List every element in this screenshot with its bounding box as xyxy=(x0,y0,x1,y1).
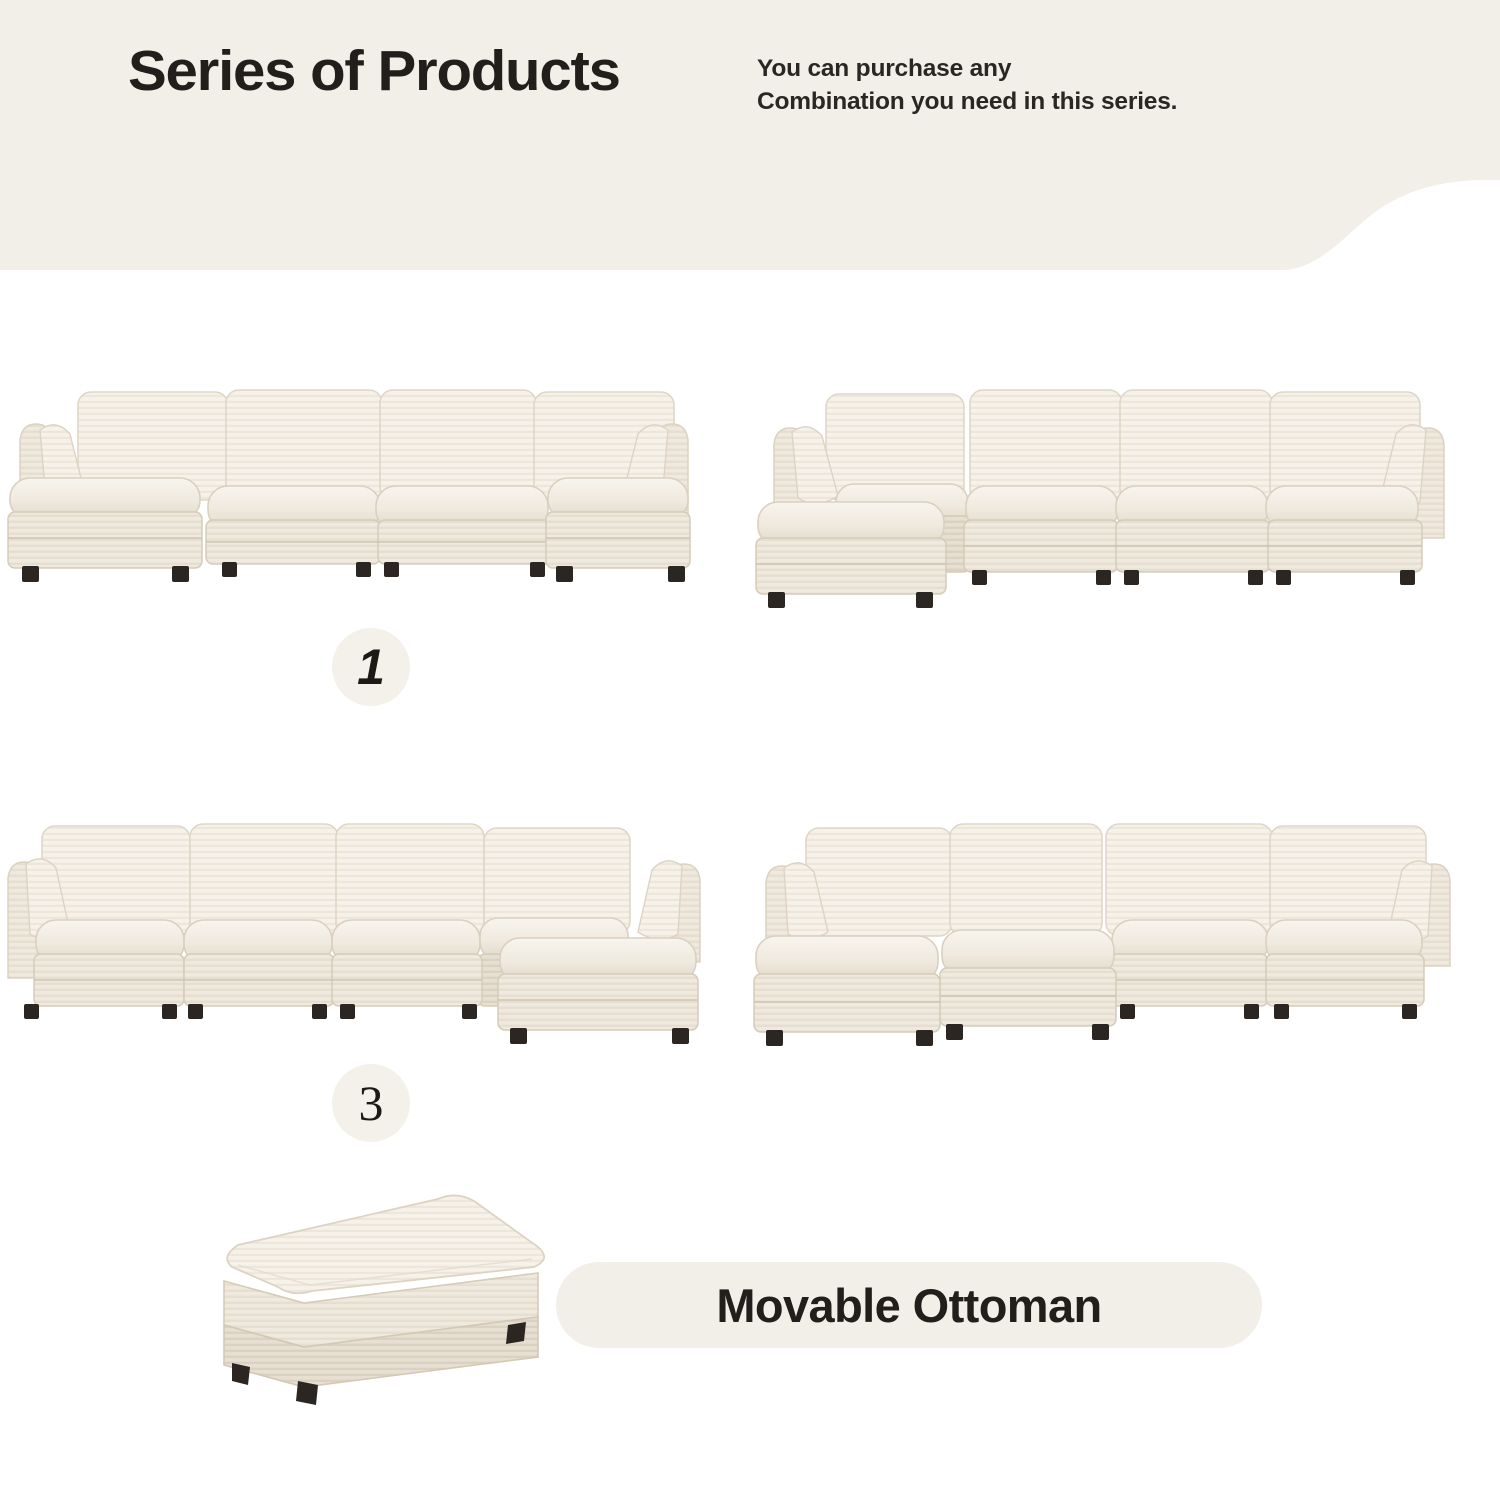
ottoman-right xyxy=(546,478,690,568)
seat-bases xyxy=(34,954,482,1006)
configuration-3-illustration xyxy=(0,812,740,1052)
movable-ottoman-label: Movable Ottoman xyxy=(716,1278,1101,1333)
config-badge-1-label: 1 xyxy=(357,642,385,692)
configuration-1-illustration xyxy=(0,380,740,620)
config-badge-1: 1 xyxy=(332,628,410,706)
movable-ottoman-banner: Movable Ottoman xyxy=(556,1262,1262,1348)
ottoman-left-outer xyxy=(754,936,940,1032)
ottoman-left-inner xyxy=(940,930,1116,1026)
configuration-4[interactable]: 4 xyxy=(750,812,1490,1052)
page-title: Series of Products xyxy=(128,38,620,104)
configuration-4-illustration xyxy=(750,812,1490,1052)
ottoman-right xyxy=(498,938,698,1030)
seat-bases xyxy=(1110,954,1424,1006)
header-subtitle-line-2: Combination you need in this series. xyxy=(757,85,1177,118)
movable-ottoman-illustration xyxy=(186,1185,576,1410)
header-text-group: Series of Products You can purchase any … xyxy=(0,0,1500,170)
config-badge-3-label: 3 xyxy=(359,1078,384,1128)
seat-bases xyxy=(206,520,552,564)
ottoman-left xyxy=(8,478,202,568)
configuration-2-illustration xyxy=(750,380,1490,620)
configuration-3[interactable]: 3 xyxy=(0,812,740,1052)
seat-bases xyxy=(964,520,1422,572)
ottoman-left xyxy=(756,502,946,594)
header-subtitle: You can purchase any Combination you nee… xyxy=(757,52,1177,118)
header-subtitle-line-1: You can purchase any xyxy=(757,52,1177,85)
config-badge-3: 3 xyxy=(332,1064,410,1142)
configuration-2[interactable]: 2 xyxy=(750,380,1490,620)
configuration-1[interactable]: 1 xyxy=(0,380,740,620)
